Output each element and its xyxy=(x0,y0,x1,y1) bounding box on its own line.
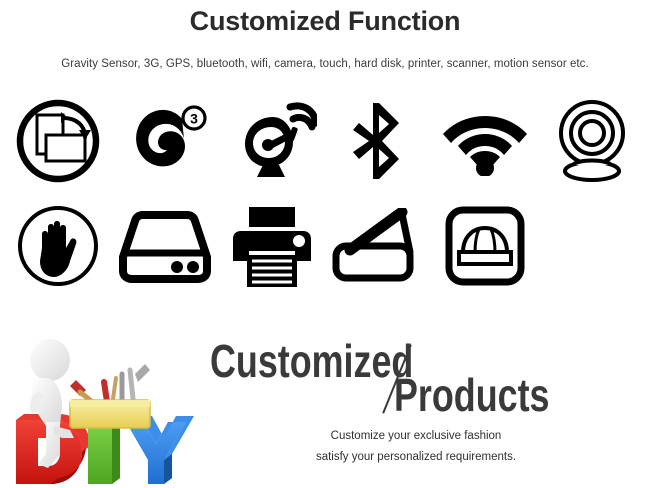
3g-network-icon: 3 xyxy=(115,93,215,188)
camera-webcam-icon xyxy=(542,93,642,188)
bluetooth-icon xyxy=(328,93,428,188)
tagline: Customize your exclusive fashion satisfy… xyxy=(196,426,636,468)
bottom-band: Customized Products Customize your exclu… xyxy=(0,318,650,488)
icon-row-2 xyxy=(8,193,642,298)
customized-products-lockup: Customized Products xyxy=(196,338,606,418)
printer-icon xyxy=(222,198,322,293)
tagline-line-2: satisfy your personalized requirements. xyxy=(196,447,636,468)
icon-grid-spacer xyxy=(542,198,642,293)
hard-disk-icon xyxy=(115,198,215,293)
gps-satellite-icon xyxy=(222,93,322,188)
diy-illustration xyxy=(4,334,200,488)
wifi-icon xyxy=(435,93,535,188)
diy-toolbox xyxy=(70,364,150,428)
touch-hand-icon xyxy=(8,198,108,293)
page-title: Customized Function xyxy=(0,6,650,37)
tagline-line-1: Customize your exclusive fashion xyxy=(196,426,636,447)
icon-row-1: 3 xyxy=(8,88,642,193)
feature-icon-grid: 3 xyxy=(8,88,642,298)
lockup-word-products: Products xyxy=(394,372,550,418)
motion-sensor-icon xyxy=(435,198,535,293)
scanner-icon xyxy=(328,198,428,293)
lockup-word-customized: Customized xyxy=(210,338,413,384)
3g-badge-label: 3 xyxy=(190,110,198,126)
feature-list-subtitle: Gravity Sensor, 3G, GPS, bluetooth, wifi… xyxy=(0,58,650,70)
gravity-sensor-icon xyxy=(8,93,108,188)
